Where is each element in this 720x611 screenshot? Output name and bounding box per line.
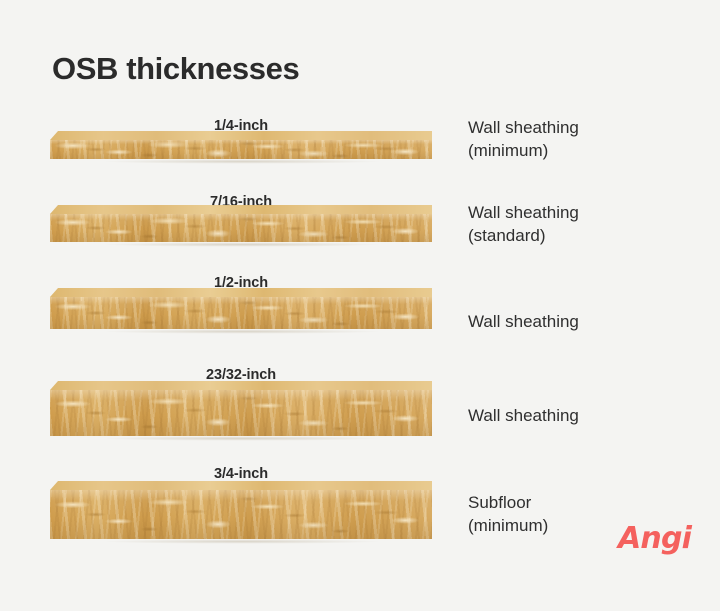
board-top-face xyxy=(50,481,432,490)
thickness-label: 3/4-inch xyxy=(50,466,432,482)
board-edge-face xyxy=(50,297,432,329)
board-shadow xyxy=(56,436,428,441)
board-top-face xyxy=(50,288,432,297)
page-title: OSB thicknesses xyxy=(52,52,299,86)
board-top-face xyxy=(50,381,432,390)
board-shadow xyxy=(56,329,428,334)
board-edge-face xyxy=(50,214,432,242)
use-label: Wall sheathing xyxy=(468,311,708,334)
osb-thickness-infographic: OSB thicknesses 1/4-inch Wall sheathing … xyxy=(0,0,720,611)
board-edge-face xyxy=(50,390,432,436)
board-top-face xyxy=(50,205,432,214)
board-shadow xyxy=(56,539,428,544)
board-shadow xyxy=(56,159,428,164)
board-edge-face xyxy=(50,490,432,539)
board-top-face xyxy=(50,131,432,140)
angi-logo: Angi xyxy=(618,524,691,554)
use-label: Wall sheathing xyxy=(468,405,708,428)
use-label: Wall sheathing (standard) xyxy=(468,202,708,247)
thickness-label: 23/32-inch xyxy=(50,367,432,383)
board-edge-face xyxy=(50,140,432,159)
board-shadow xyxy=(56,242,428,247)
use-label: Wall sheathing (minimum) xyxy=(468,117,708,162)
